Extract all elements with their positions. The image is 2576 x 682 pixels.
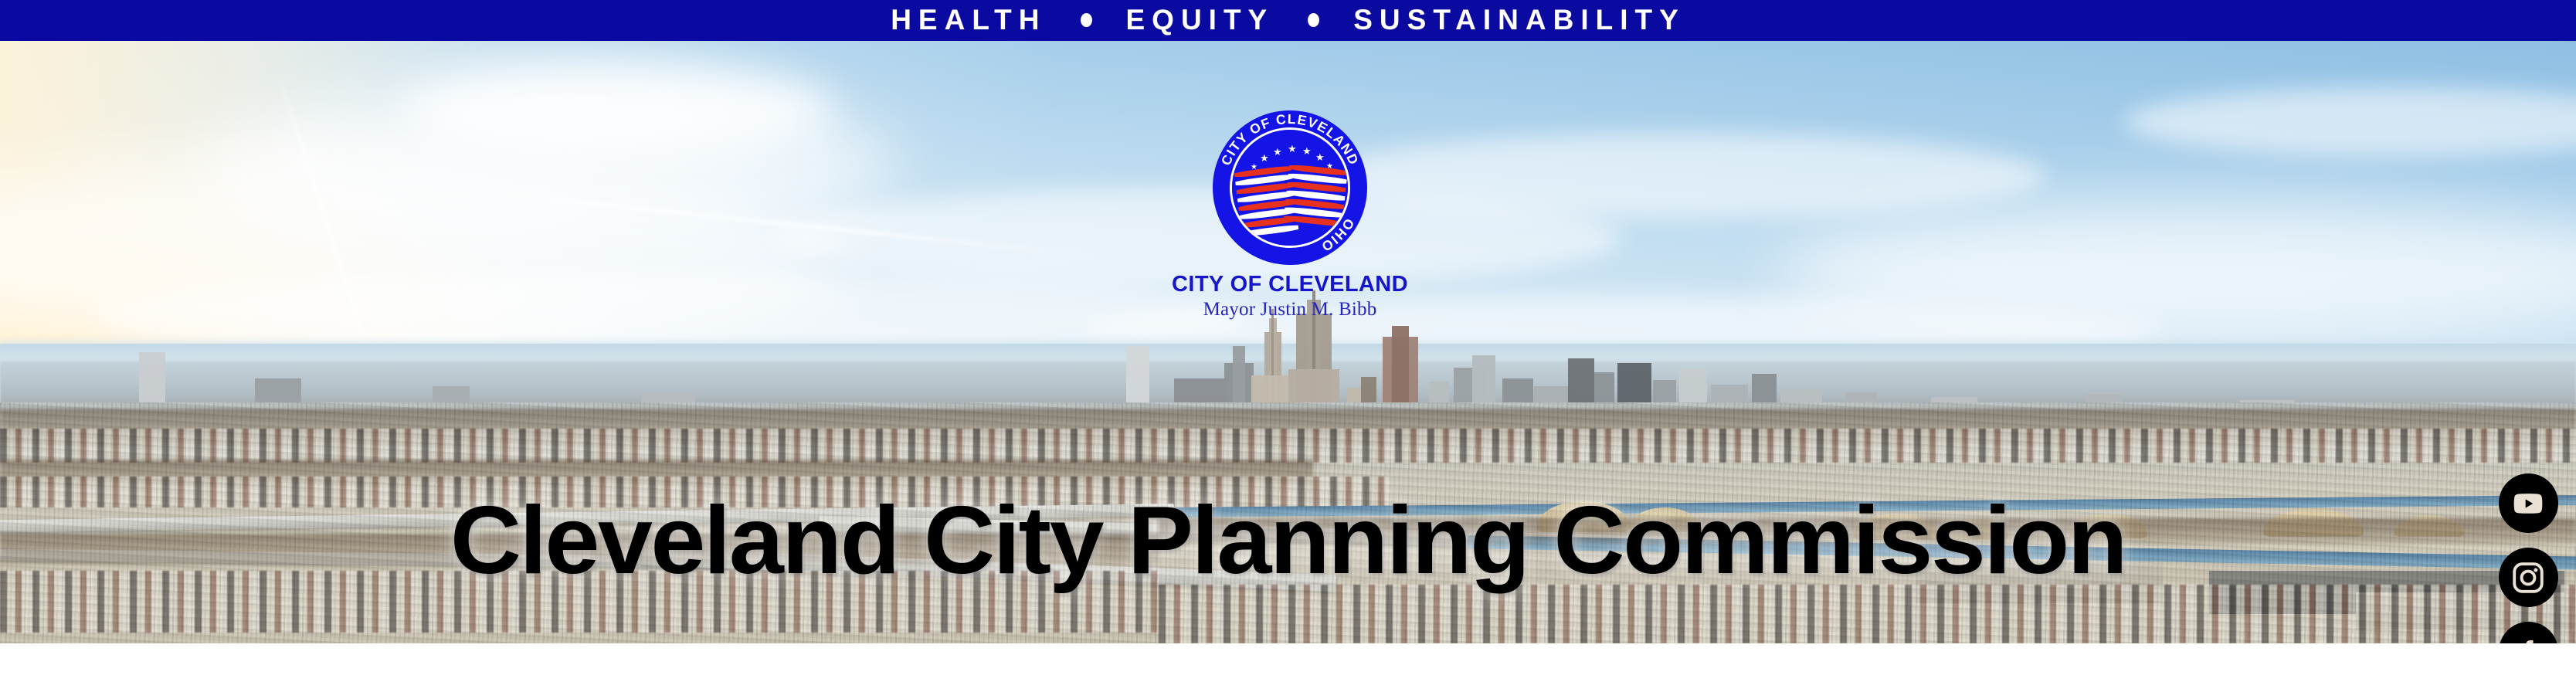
- banner-words: HEALTH EQUITY SUSTAINABILITY: [891, 5, 1685, 34]
- flag-stripes-right: [1282, 159, 1348, 236]
- youtube-icon: [2511, 487, 2545, 521]
- instagram-icon: [2511, 561, 2545, 595]
- facebook-icon: [2511, 635, 2545, 644]
- banner-word-sustainability: SUSTAINABILITY: [1353, 5, 1685, 34]
- cloud: [402, 64, 834, 157]
- bottom-whitespace: [0, 643, 2576, 682]
- instagram-link[interactable]: [2499, 548, 2558, 607]
- bullet-dot-icon: [1081, 13, 1092, 27]
- city-of-cleveland-seal-icon: CITY OF CLEVELAND OHIO ★ ★ ★ ★ ★ ★ ★: [1213, 110, 1367, 265]
- city-logo-block[interactable]: CITY OF CLEVELAND OHIO ★ ★ ★ ★ ★ ★ ★: [1081, 87, 1498, 342]
- city-name-label: CITY OF CLEVELAND: [1081, 273, 1498, 296]
- page-title: Cleveland City Planning Commission: [0, 493, 2576, 589]
- social-links: [2491, 473, 2565, 643]
- top-announcement-banner: HEALTH EQUITY SUSTAINABILITY: [0, 0, 2576, 41]
- facebook-link[interactable]: [2499, 622, 2558, 643]
- banner-word-equity: EQUITY: [1126, 5, 1274, 34]
- banner-word-health: HEALTH: [891, 5, 1046, 34]
- mayor-name-label: Mayor Justin M. Bibb: [1081, 300, 1498, 320]
- hero-photo: CITY OF CLEVELAND OHIO ★ ★ ★ ★ ★ ★ ★: [0, 41, 2576, 643]
- bullet-dot-icon: [1308, 13, 1319, 27]
- youtube-link[interactable]: [2499, 473, 2558, 533]
